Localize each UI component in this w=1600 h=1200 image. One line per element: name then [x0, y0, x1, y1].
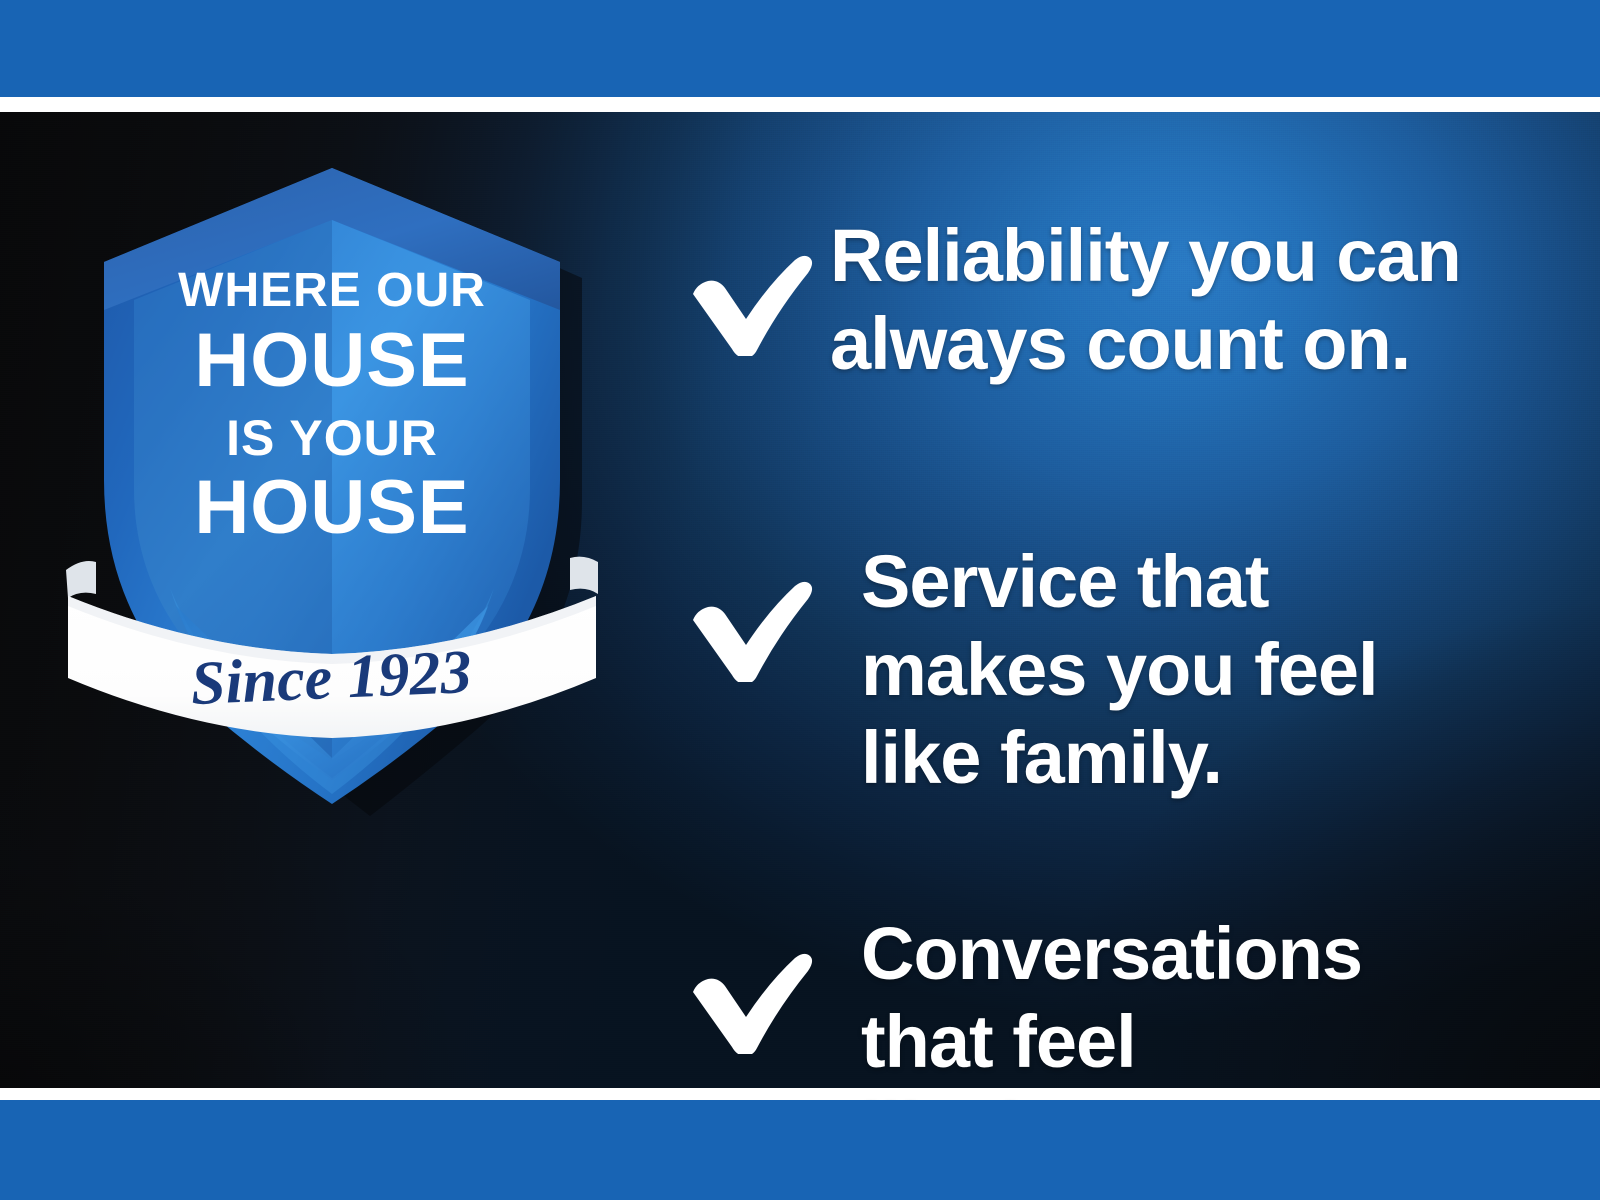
benefit-item-2: Service that makes you feel like family.	[665, 538, 1545, 802]
check-icon	[677, 236, 817, 356]
benefit-item-1: Reliability you can always count on.	[665, 212, 1545, 388]
ribbon-since-text: Since 1923	[189, 638, 472, 718]
shield-line-2: HOUSE	[194, 318, 469, 403]
benefit-text-1: Reliability you can always count on.	[830, 212, 1545, 388]
ribbon-fold-left	[66, 561, 96, 598]
shield-line-3: IS YOUR	[226, 410, 438, 466]
shield-line-4: HOUSE	[194, 465, 469, 550]
benefit-text-2: Service that makes you feel like family.	[861, 538, 1545, 802]
check-icon	[677, 562, 817, 682]
shield-logo: WHERE OUR HOUSE IS YOUR HOUSE Since 1923	[60, 158, 605, 818]
check-icon	[677, 934, 817, 1054]
benefits-list: Reliability you can always count on. Ser…	[665, 190, 1545, 1174]
ribbon-fold-right	[570, 557, 598, 594]
top-brand-bar	[0, 0, 1600, 97]
shield-line-1: WHERE OUR	[178, 264, 486, 317]
promo-graphic: WHERE OUR HOUSE IS YOUR HOUSE Since 1923…	[0, 0, 1600, 1200]
bottom-brand-bar	[0, 1100, 1600, 1200]
